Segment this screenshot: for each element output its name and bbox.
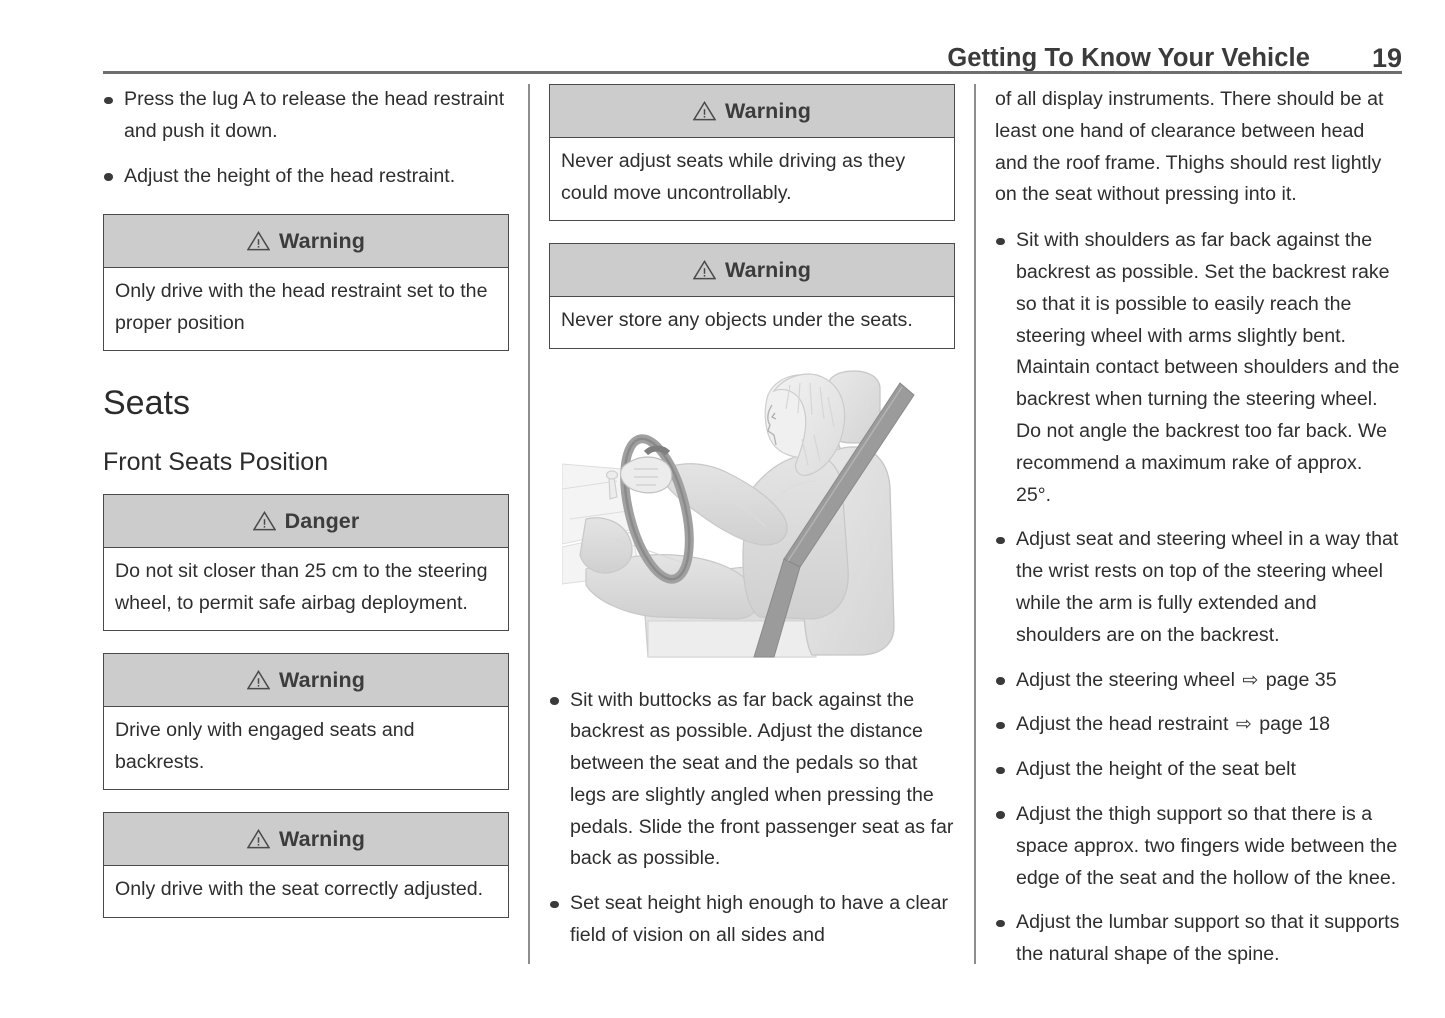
list-item: Adjust seat and steering wheel in a way … [995,524,1401,651]
callout-header: Warning [550,85,954,138]
document-page: Getting To Know Your Vehicle 19 Press th… [0,0,1445,1018]
bullet-dot-icon [996,238,1005,246]
page-header: Getting To Know Your Vehicle 19 [103,36,1402,74]
list-item: Sit with shoulders as far back against t… [995,225,1401,511]
callout-header: Warning [104,813,508,866]
page-title: Getting To Know Your Vehicle [947,46,1310,75]
bullet-dot-icon [996,767,1005,775]
callout-header: Danger [104,495,508,548]
header-divider [103,71,1402,74]
callout-label: Warning [279,229,365,254]
callout-warning-never-adjust-driving: Warning Never adjust seats while driving… [549,84,955,221]
cross-reference-label: Adjust the steering wheel [1016,669,1235,691]
column-2: Warning Never adjust seats while driving… [549,84,955,968]
illustration-driver-seating-position [562,369,942,659]
callout-warning-head-restraint: Warning Only drive with the head restrai… [103,214,509,351]
list-item-text: Adjust the height of the head restraint. [124,165,455,187]
callout-label: Warning [725,99,811,124]
warning-triangle-icon [253,511,276,531]
bullet-dot-icon [996,722,1005,730]
cross-reference-arrow-icon: ⇨ [1240,670,1260,691]
spacer [549,659,955,685]
warning-triangle-icon [247,829,270,849]
list-item: Sit with buttocks as far back against th… [549,685,955,876]
spacer [103,192,509,214]
three-column-body: Press the lug A to release the head rest… [103,84,1402,968]
list-item: Adjust the thigh support so that there i… [995,799,1401,894]
spacer [995,211,1401,225]
callout-warning-seat-adjusted: Warning Only drive with the seat correct… [103,812,509,918]
callout-body: Drive only with engaged seats and backre… [104,707,508,789]
callout-label: Danger [285,509,360,534]
list-item-text: Sit with shoulders as far back against t… [1016,229,1399,505]
column-3: of all display instruments. There should… [995,84,1401,968]
spacer [103,351,509,385]
vertical-divider [974,84,976,964]
bullet-list-head-restraint: Press the lug A to release the head rest… [103,84,509,192]
callout-body: Only drive with the head restraint set t… [104,268,508,350]
list-item-text: Press the lug A to release the head rest… [124,88,504,142]
spacer [103,476,509,494]
vertical-divider [528,84,530,964]
bullet-dot-icon [104,173,113,181]
column-1: Press the lug A to release the head rest… [103,84,509,968]
driver-seating-position-drawing [562,369,942,659]
list-item-text: Adjust the lumbar support so that it sup… [1016,911,1399,965]
list-item: Set seat height high enough to have a cl… [549,888,955,952]
cross-reference-label: Adjust the head restraint [1016,713,1228,735]
bullet-dot-icon [550,697,559,705]
cross-reference-target[interactable]: page 18 [1259,713,1330,735]
warning-triangle-icon [693,101,716,121]
callout-header: Warning [104,654,508,707]
callout-body: Only drive with the seat correctly adjus… [104,866,508,917]
list-item: Adjust the height of the seat belt [995,754,1401,786]
callout-warning-engaged-seats: Warning Drive only with engaged seats an… [103,653,509,790]
callout-body: Never adjust seats while driving as they… [550,138,954,220]
callout-body: Never store any objects under the seats. [550,297,954,348]
list-item-text: Adjust seat and steering wheel in a way … [1016,528,1398,645]
callout-body: Do not sit closer than 25 cm to the stee… [104,548,508,630]
cross-reference-target[interactable]: page 35 [1266,669,1337,691]
callout-label: Warning [279,827,365,852]
bullet-dot-icon [104,97,113,105]
list-item: Adjust the height of the head restraint. [103,161,509,193]
spacer [549,349,955,369]
warning-triangle-icon [247,670,270,690]
callout-header: Warning [104,215,508,268]
spacer [103,423,509,449]
warning-triangle-icon [247,231,270,251]
section-heading-seats: Seats [103,385,509,422]
warning-triangle-icon [693,260,716,280]
bullet-dot-icon [996,920,1005,928]
list-item-cross-reference-head-restraint[interactable]: Adjust the head restraint ⇨ page 18 [995,709,1401,741]
spacer [103,631,509,653]
callout-label: Warning [725,258,811,283]
spacer [103,790,509,812]
bullet-dot-icon [996,677,1005,685]
cross-reference-arrow-icon: ⇨ [1234,714,1254,735]
callout-warning-no-objects-under-seats: Warning Never store any objects under th… [549,243,955,349]
callout-header: Warning [550,244,954,297]
bullet-dot-icon [996,537,1005,545]
bullet-list-seating-position: Sit with buttocks as far back against th… [549,685,955,952]
list-item: Adjust the lumbar support so that it sup… [995,907,1401,971]
list-item-text: Adjust the height of the seat belt [1016,758,1296,780]
column-separator-1 [509,84,549,968]
spacer [549,221,955,243]
list-item-text: Set seat height high enough to have a cl… [570,892,948,946]
list-item: Press the lug A to release the head rest… [103,84,509,148]
column-separator-2 [955,84,995,968]
subsection-heading-front-seats-position: Front Seats Position [103,449,509,477]
list-item-cross-reference-steering-wheel[interactable]: Adjust the steering wheel ⇨ page 35 [995,665,1401,697]
page-number: 19 [1368,45,1402,74]
bullet-dot-icon [996,811,1005,819]
callout-danger-airbag: Danger Do not sit closer than 25 cm to t… [103,494,509,631]
callout-label: Warning [279,668,365,693]
continued-paragraph: of all display instruments. There should… [995,84,1401,211]
list-item-text: Adjust the thigh support so that there i… [1016,803,1397,889]
bullet-list-backrest-adjustment: Sit with shoulders as far back against t… [995,225,1401,971]
list-item-text: Sit with buttocks as far back against th… [570,689,953,870]
bullet-dot-icon [550,901,559,909]
